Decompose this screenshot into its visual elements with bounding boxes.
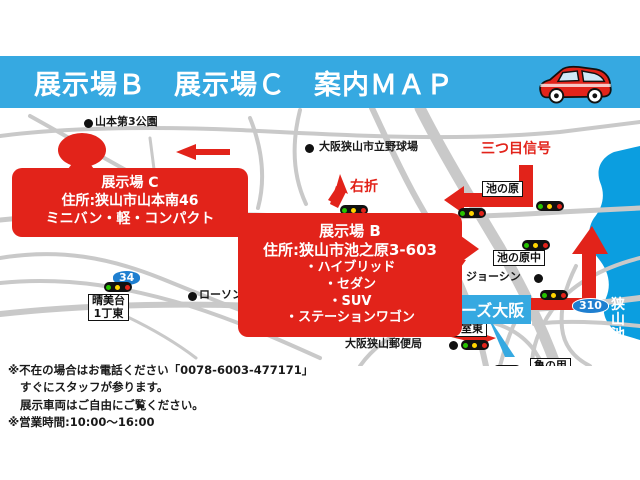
poi-label-joshin: ジョーシン <box>466 271 521 284</box>
header-banner: 展示場Ｂ 展示場Ｃ 案内ＭＡＰ <box>0 56 640 108</box>
intersection-ikenohara: 池の原 <box>482 181 523 197</box>
intersection-harumidai-line1: 晴美台 <box>92 294 125 307</box>
poi-label-yamamoto-park: 山本第3公園 <box>95 116 158 129</box>
direction-third-signal: 三つ目信号 <box>481 138 551 158</box>
red-car-icon <box>534 62 614 104</box>
footer-line-3: 展示車両はご自由にご覧ください。 <box>8 397 313 414</box>
poi-dot-lawson <box>188 292 197 301</box>
intersection-harumidai: 晴美台 1丁東 <box>88 294 129 321</box>
direction-turn-right: 右折 <box>350 176 378 196</box>
traffic-signal-south <box>540 290 568 300</box>
site-c-name: 展示場 C <box>12 175 248 193</box>
site-b-name: 展示場 B <box>238 222 462 241</box>
site-c-types: ミニバン・軽・コンパクト <box>12 211 248 229</box>
footer-line-2: すぐにスタッフが参ります。 <box>8 379 313 396</box>
lake-label: 狭山池 <box>608 298 628 343</box>
site-b-type-2: ・SUV <box>238 294 462 311</box>
traffic-signal-mid <box>458 208 486 218</box>
poi-dot-baseball-stadium <box>305 144 314 153</box>
traffic-signal-mid-south <box>493 365 521 366</box>
site-b-type-3: ・ステーションワゴン <box>238 310 462 327</box>
poi-dot-joshin <box>534 274 543 283</box>
callout-site-c[interactable]: 展示場 C 住所:狭山市山本南46 ミニバン・軽・コンパクト <box>12 168 248 237</box>
site-c-address: 住所:狭山市山本南46 <box>12 193 248 211</box>
traffic-signal-harumidai <box>104 282 132 292</box>
site-b-type-0: ・ハイブリッド <box>238 260 462 277</box>
map-advertisement-page: 展示場Ｂ 展示場Ｃ 案内ＭＡＰ <box>0 0 640 480</box>
page-title: 展示場Ｂ 展示場Ｃ 案内ＭＡＰ <box>34 63 454 102</box>
intersection-ikenoharachu: 池の原中 <box>493 250 545 266</box>
footer-line-1: ※不在の場合はお電話ください「0078-6003-477171」 <box>8 362 313 379</box>
intersection-harumidai-line2: 1丁東 <box>94 307 124 320</box>
traffic-signal-ikenohara <box>536 201 564 211</box>
intersection-kamenoko: 亀の甲 <box>530 358 571 366</box>
poi-dot-post-office <box>449 341 458 350</box>
poi-dot-yamamoto-park <box>84 119 93 128</box>
callout-site-b[interactable]: 展示場 B 住所:狭山市池之原3-603 ・ハイブリッド ・セダン ・SUV ・… <box>238 213 462 337</box>
footer-notes: ※不在の場合はお電話ください「0078-6003-477171」 すぐにスタッフ… <box>8 362 313 431</box>
poi-label-post-office: 大阪狭山郵便局 <box>345 338 422 351</box>
footer-line-4: ※営業時間:10:00～16:00 <box>8 414 313 431</box>
site-b-type-1: ・セダン <box>238 277 462 294</box>
route-shield-310: 310 <box>572 298 609 314</box>
traffic-signal-ikenoharachu <box>522 240 550 250</box>
poi-label-baseball-stadium: 大阪狭山市立野球場 <box>319 141 418 154</box>
poi-label-lawson: ローソン <box>199 289 243 302</box>
site-b-address: 住所:狭山市池之原3-603 <box>238 241 462 260</box>
